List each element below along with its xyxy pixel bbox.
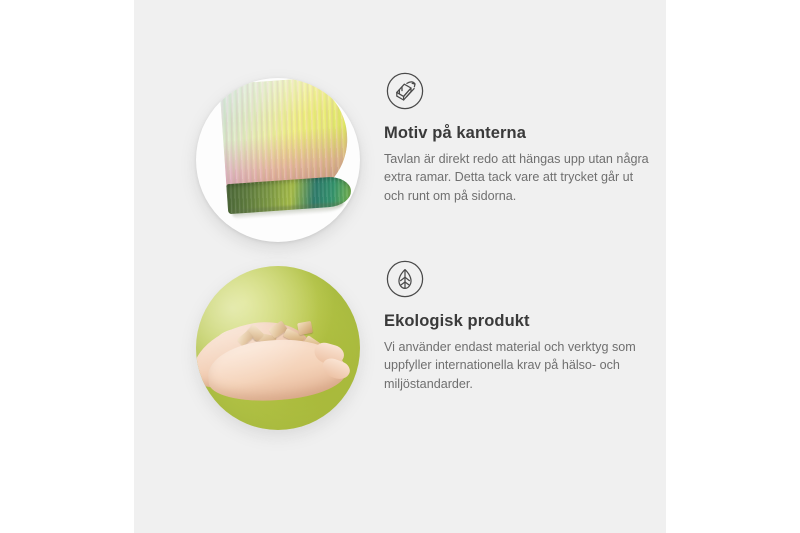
feature-description: Tavlan är direkt redo att hängas upp uta… <box>384 150 652 206</box>
leaf-eco-icon <box>384 258 426 300</box>
left-white-margin <box>0 0 134 533</box>
canvas-print-photo <box>196 78 360 242</box>
product-feature-infographic: Motiv på kanterna Tavlan är direkt redo … <box>0 0 800 533</box>
canvas-wrapped-edge-icon <box>384 70 426 112</box>
feature-title: Ekologisk produkt <box>384 300 666 332</box>
feature-block-canvas-edges: Motiv på kanterna Tavlan är direkt redo … <box>134 70 666 260</box>
photo-disc-white <box>196 78 360 242</box>
feature-title: Motiv på kanterna <box>384 112 666 144</box>
feature-text-column-canvas: Motiv på kanterna Tavlan är direkt redo … <box>384 70 666 205</box>
canvas-print-block <box>219 78 352 224</box>
wood-chips-in-hands-photo <box>196 266 360 430</box>
photo-disc-green <box>196 266 360 430</box>
right-white-margin <box>666 0 800 533</box>
feature-description: Vi använder endast material och verktyg … <box>384 338 652 394</box>
hands-illustration <box>196 266 360 430</box>
feature-text-column-eco: Ekologisk produkt Vi använder endast mat… <box>384 258 666 393</box>
feature-block-eco-product: Ekologisk produkt Vi använder endast mat… <box>134 258 666 448</box>
wood-chip <box>297 321 313 335</box>
